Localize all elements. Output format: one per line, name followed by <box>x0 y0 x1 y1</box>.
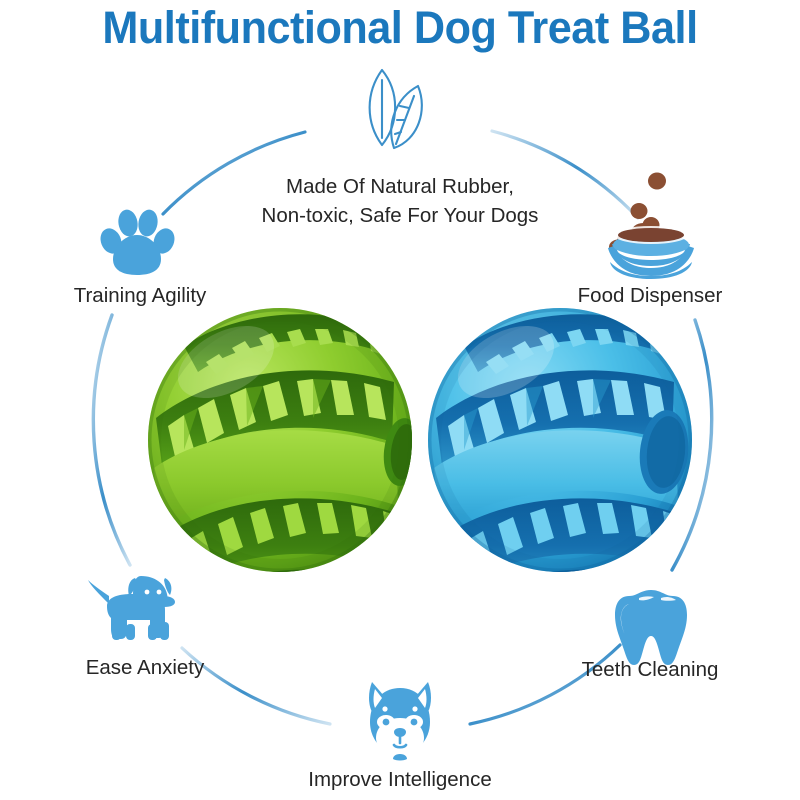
feature-label-teeth-cleaning: Teeth Cleaning <box>530 657 770 682</box>
infographic-canvas: Multifunctional Dog Treat Ball <box>0 0 800 800</box>
blue-treat-ball <box>428 308 692 580</box>
product-image <box>140 300 700 580</box>
leaf-icon <box>352 62 448 158</box>
tooth-icon-container <box>613 586 689 668</box>
dog-silhouette-icon-container <box>85 568 185 652</box>
dog-face-icon <box>358 678 442 762</box>
feature-label-ease-anxiety: Ease Anxiety <box>25 655 265 680</box>
dog-food-bowl-icon-container <box>596 168 706 280</box>
dog-food-bowl-icon <box>596 168 706 280</box>
green-treat-ball <box>148 308 423 580</box>
feature-label-natural-rubber: Made Of Natural Rubber, Non-toxic, Safe … <box>190 172 610 230</box>
leaf-icon-container <box>352 62 448 158</box>
paw-print-icon <box>98 203 176 281</box>
dog-face-icon-container <box>358 678 442 762</box>
tooth-icon <box>613 586 689 668</box>
treat-balls-svg <box>140 300 700 580</box>
feature-label-improve-intelligence: Improve Intelligence <box>265 767 535 792</box>
paw-print-icon-container <box>98 203 176 281</box>
dog-silhouette-icon <box>85 568 185 652</box>
